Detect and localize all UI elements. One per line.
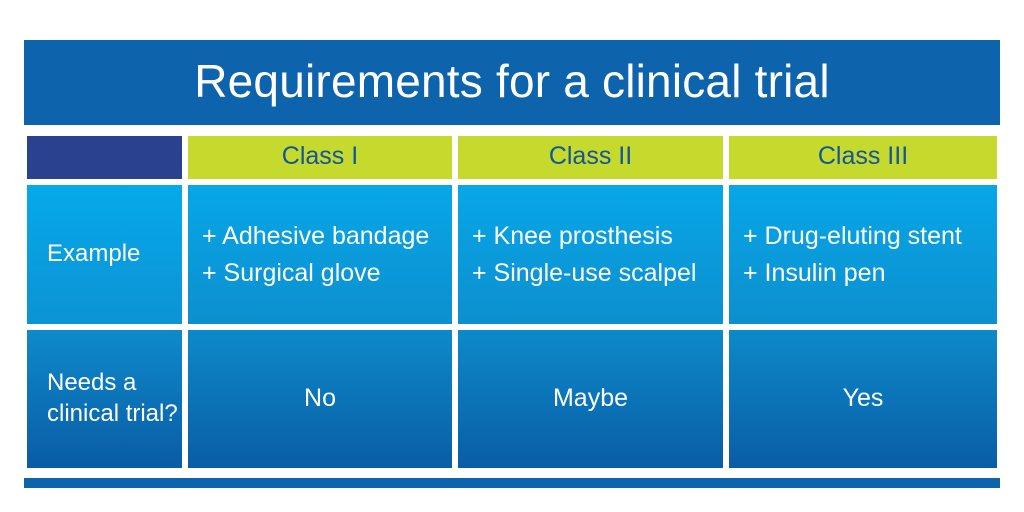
row-header-label: Example [47,239,140,270]
row-header-example: Example [24,182,185,327]
answer-value: No [304,386,336,413]
footer-accent-bar [24,478,1000,488]
bullet-item: + Surgical glove [202,255,381,292]
table-corner-cell [24,133,185,182]
column-header-class-i: Class I [185,133,455,182]
bullet-item: + Knee prosthesis [472,218,673,255]
table-cell-example-class-i: + Adhesive bandage + Surgical glove [185,182,455,327]
answer-value: Yes [843,386,884,413]
table-cell-trial-class-i: No [185,327,455,471]
bullet-item: + Single-use scalpel [472,255,696,292]
bullet-item: + Drug-eluting stent [743,218,962,255]
bullet-item: + Insulin pen [743,255,885,292]
table-cell-trial-class-ii: Maybe [455,327,726,471]
table-cell-example-class-ii: + Knee prosthesis + Single-use scalpel [455,182,726,327]
slide-title-banner: Requirements for a clinical trial [24,40,1000,125]
column-header-class-ii: Class II [455,133,726,182]
slide-title: Requirements for a clinical trial [194,58,830,108]
comparison-table: Class I Class II Class III Example + Adh… [24,133,1000,471]
column-header-label: Class III [818,144,908,172]
answer-value: Maybe [553,386,628,413]
slide-canvas: Requirements for a clinical trial Class … [0,0,1024,512]
row-header-label: Needs a clinical trial? [47,368,182,429]
column-header-class-iii: Class III [726,133,1000,182]
column-header-label: Class II [549,144,632,172]
table-cell-trial-class-iii: Yes [726,327,1000,471]
row-header-needs-clinical-trial: Needs a clinical trial? [24,327,185,471]
bullet-item: + Adhesive bandage [202,218,429,255]
column-header-label: Class I [282,144,358,172]
table-cell-example-class-iii: + Drug-eluting stent + Insulin pen [726,182,1000,327]
